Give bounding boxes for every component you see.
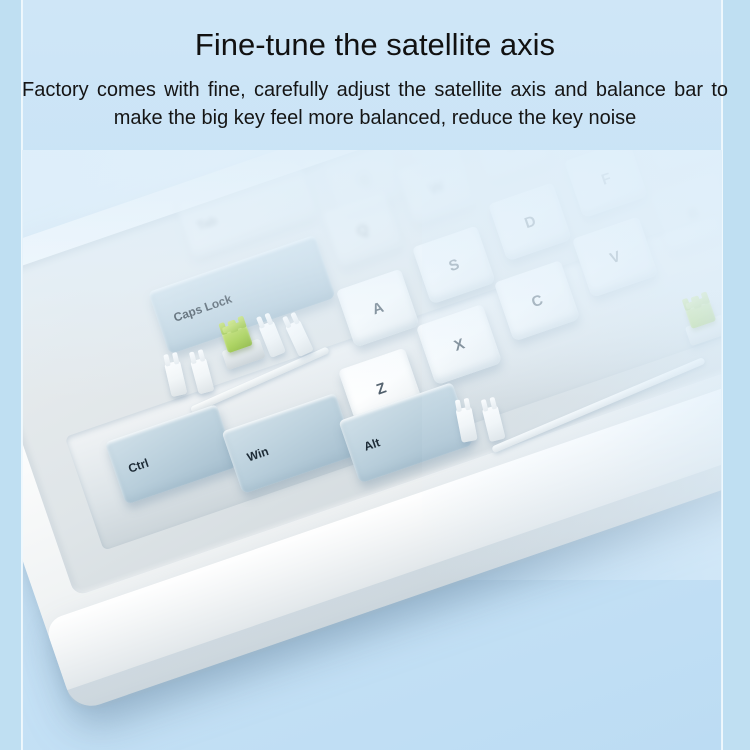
page-title: Fine-tune the satellite axis xyxy=(0,0,750,62)
key-label: E xyxy=(503,150,518,155)
key-label: D xyxy=(522,212,538,232)
key-label: B xyxy=(685,204,701,224)
key-label: Tab xyxy=(195,213,219,233)
product-feature-banner: Q Q Q Q W Tab Q W E R T Caps Lock A S D xyxy=(0,0,750,750)
keyboard-photo: Q Q Q Q W Tab Q W E R T Caps Lock A S D xyxy=(22,150,722,750)
text-block: Fine-tune the satellite axis Factory com… xyxy=(0,0,750,133)
key-label: Win xyxy=(245,444,270,464)
key-label: Q xyxy=(356,169,373,189)
page-description: Factory comes with fine, carefully adjus… xyxy=(22,76,728,133)
key-label: Alt xyxy=(362,435,382,453)
key-label: A xyxy=(370,298,386,318)
key-label: C xyxy=(529,291,545,311)
key-label: V xyxy=(608,247,623,266)
key-label: Q xyxy=(354,220,371,240)
key-label: Z xyxy=(374,379,388,398)
key-label: W xyxy=(427,177,446,198)
key-label: Ctrl xyxy=(126,456,150,476)
key-label: F xyxy=(599,169,613,188)
key-label: S xyxy=(446,255,461,274)
key-label: X xyxy=(452,335,467,354)
key-label: Caps Lock xyxy=(172,292,234,325)
